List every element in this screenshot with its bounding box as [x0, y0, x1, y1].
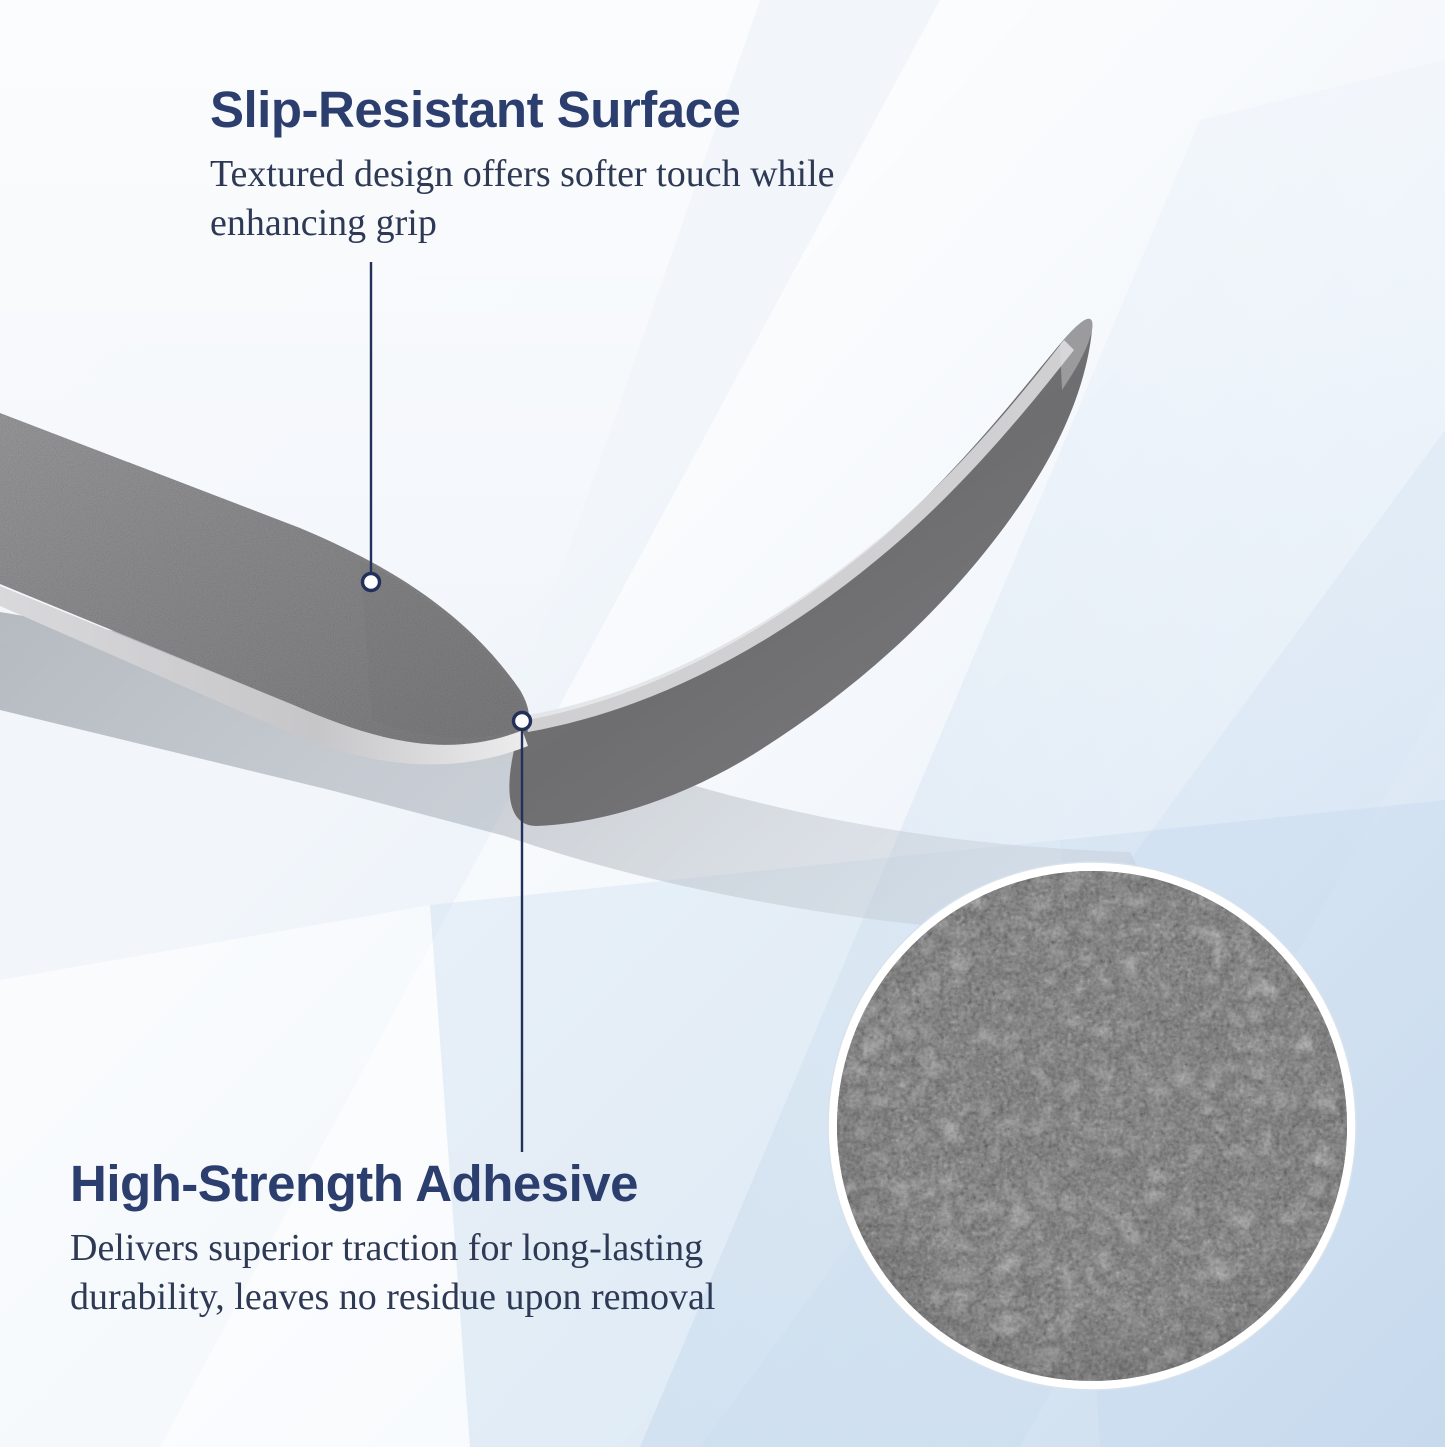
- infographic-canvas: Slip-Resistant Surface Textured design o…: [0, 0, 1445, 1447]
- tape-bend-shading: [360, 560, 524, 738]
- callout-high-strength-adhesive: High-Strength Adhesive Delivers superior…: [70, 1158, 860, 1323]
- texture-closeup-inset: [828, 862, 1356, 1390]
- marker-ring-slip-resistant: [363, 574, 380, 591]
- callout-body-slip-resistant: Textured design offers softer touch whil…: [210, 150, 940, 249]
- marker-ring-high-strength: [514, 713, 531, 730]
- callout-title-slip-resistant: Slip-Resistant Surface: [210, 84, 970, 136]
- callout-title-high-strength: High-Strength Adhesive: [70, 1158, 860, 1210]
- callout-body-high-strength: Delivers superior traction for long-last…: [70, 1224, 830, 1323]
- callout-slip-resistant-surface: Slip-Resistant Surface Textured design o…: [210, 84, 970, 249]
- tape-underside-face: [509, 319, 1092, 826]
